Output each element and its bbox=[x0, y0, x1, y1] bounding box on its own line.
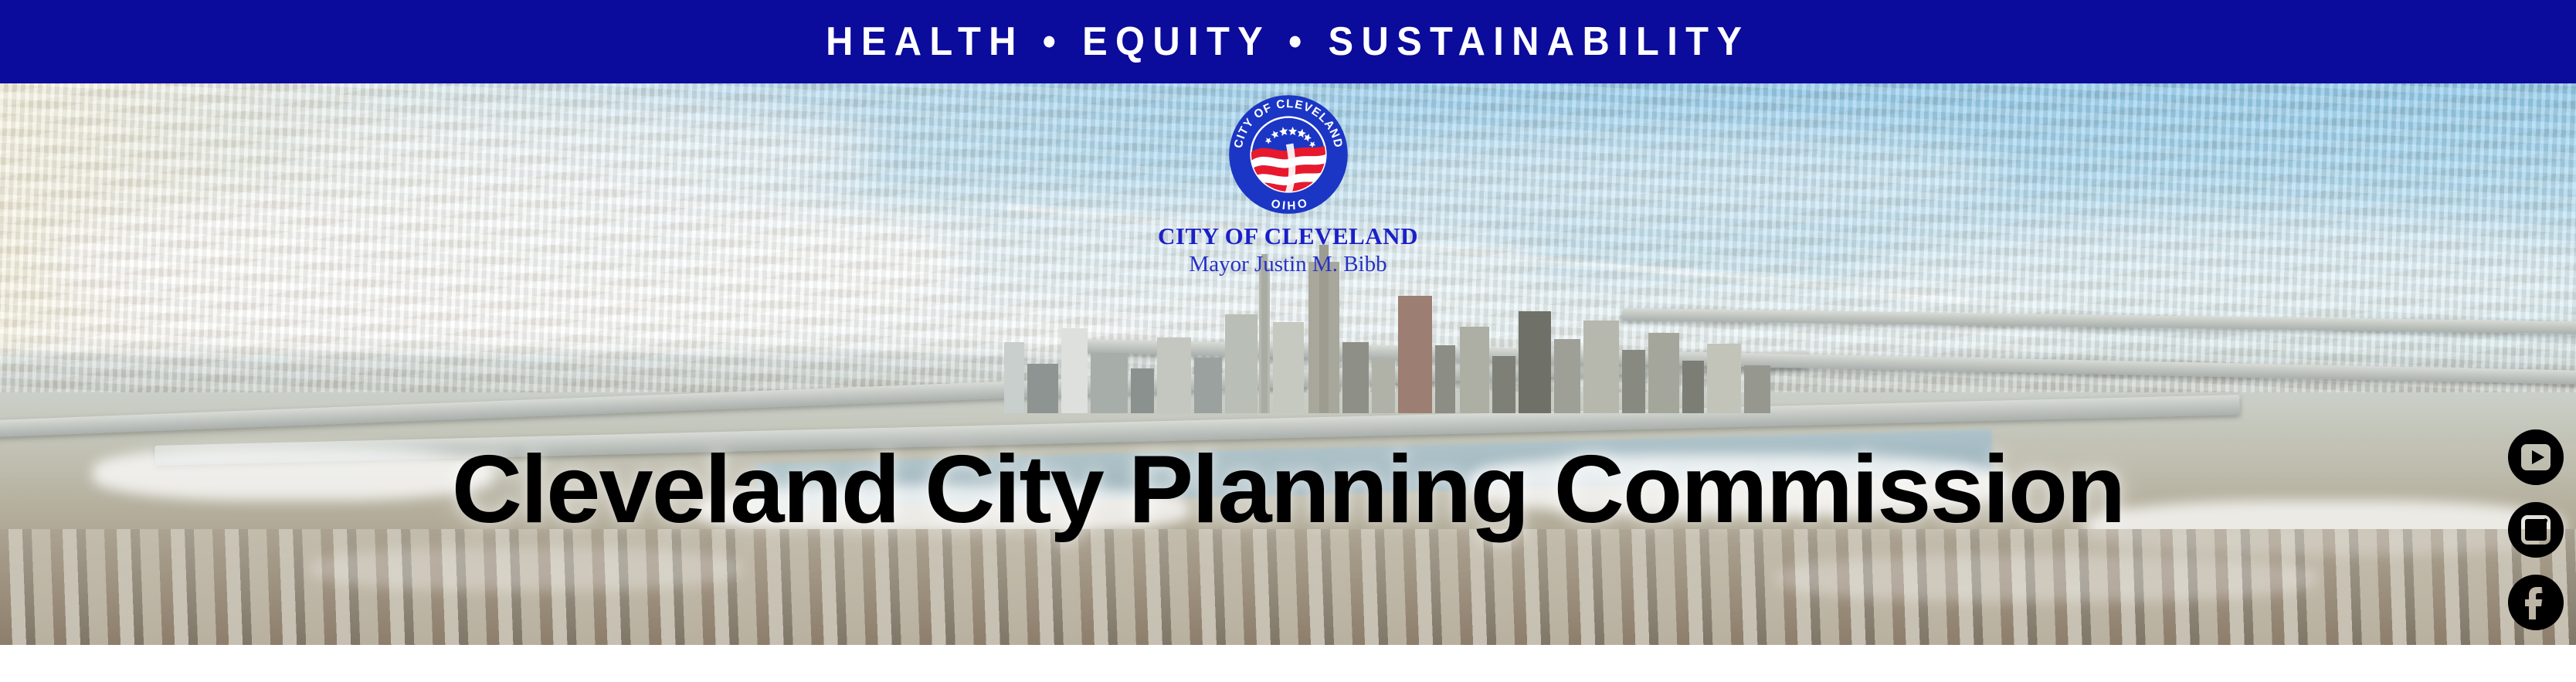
youtube-icon[interactable] bbox=[2508, 429, 2564, 485]
bottom-white-strip bbox=[0, 645, 2576, 682]
page-title: Cleveland City Planning Commission bbox=[0, 442, 2576, 538]
city-of-cleveland-seal-icon: CITY OF CLEVELAND OHIO bbox=[1227, 93, 1350, 216]
tagline-banner: HEALTH • EQUITY • SUSTAINABILITY bbox=[0, 0, 2576, 83]
mayor-name: Mayor Justin M. Bibb bbox=[1126, 253, 1451, 276]
city-logo-block: CITY OF CLEVELAND OHIO bbox=[1126, 93, 1451, 276]
instagram-icon[interactable] bbox=[2508, 502, 2564, 558]
social-links bbox=[2506, 429, 2565, 630]
page-root: HEALTH • EQUITY • SUSTAINABILITY bbox=[0, 0, 2576, 682]
tagline-text: HEALTH • EQUITY • SUSTAINABILITY bbox=[826, 22, 1750, 62]
facebook-icon[interactable] bbox=[2508, 575, 2564, 630]
neighborhood-shading bbox=[0, 529, 2576, 645]
city-wordmark: CITY OF CLEVELAND bbox=[1126, 224, 1451, 249]
